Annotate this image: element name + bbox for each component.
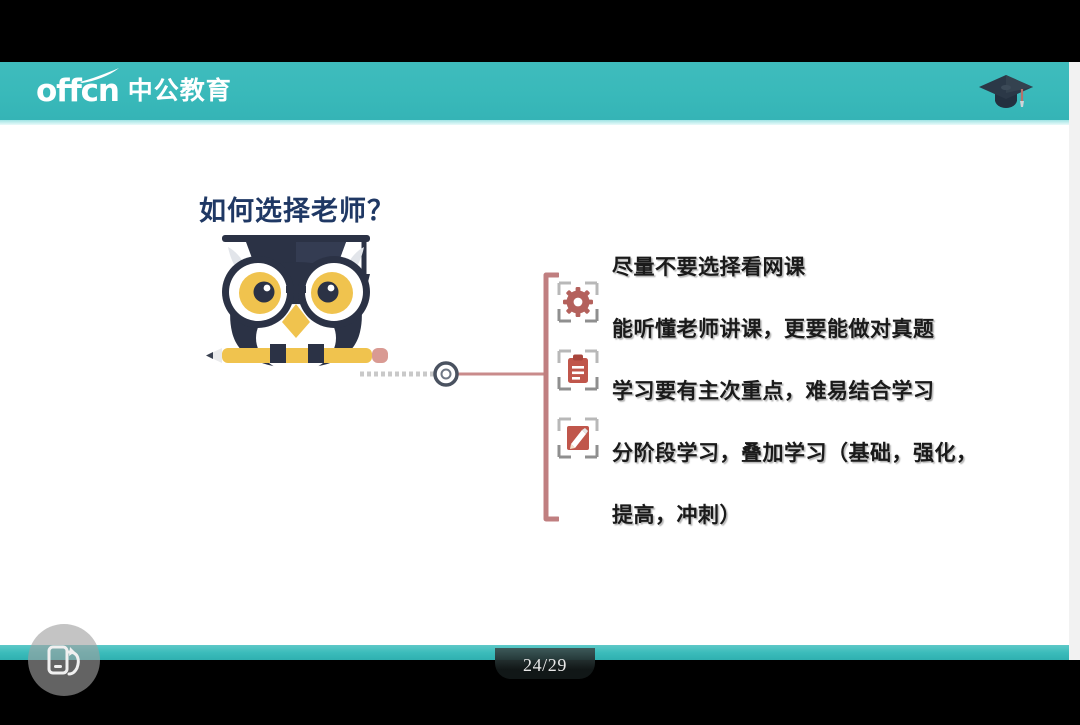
slide-right-margin [1069,62,1080,660]
logo-latin-text: offcn [36,76,119,107]
gear-settings-icon [556,280,600,324]
graduation-cap-icon [975,70,1037,112]
screen-rotate-icon [42,638,86,682]
edit-document-icon [556,416,600,460]
bullet-line-3: 学习要有主次重点，难易结合学习 [612,361,1052,423]
page-indicator: 24/29 [495,648,595,679]
clipboard-icon [556,348,600,392]
bullet-line-2: 能听懂老师讲课，更要能做对真题 [612,299,1052,361]
letterbox-top [0,0,1080,62]
icon-column [556,280,602,520]
slide-canvas: offcn 中公教育 如何选择老师？ [0,62,1069,660]
logo-chinese-text: 中公教育 [128,79,232,104]
bullet-list: 尽量不要选择看网课 能听懂老师讲课，更要能做对真题 学习要有主次重点，难易结合学… [612,237,1052,547]
bullet-line-4: 分阶段学习，叠加学习（基础，强化， [612,423,1052,485]
brand-header-underline [0,120,1069,125]
bullet-line-1: 尽量不要选择看网课 [612,237,1052,299]
bullet-line-5: 提高，冲刺） [612,485,1052,547]
brand-logo: offcn 中公教育 [36,71,232,111]
video-player-screen: offcn 中公教育 如何选择老师？ [0,0,1080,725]
screen-rotate-button[interactable] [28,624,100,696]
